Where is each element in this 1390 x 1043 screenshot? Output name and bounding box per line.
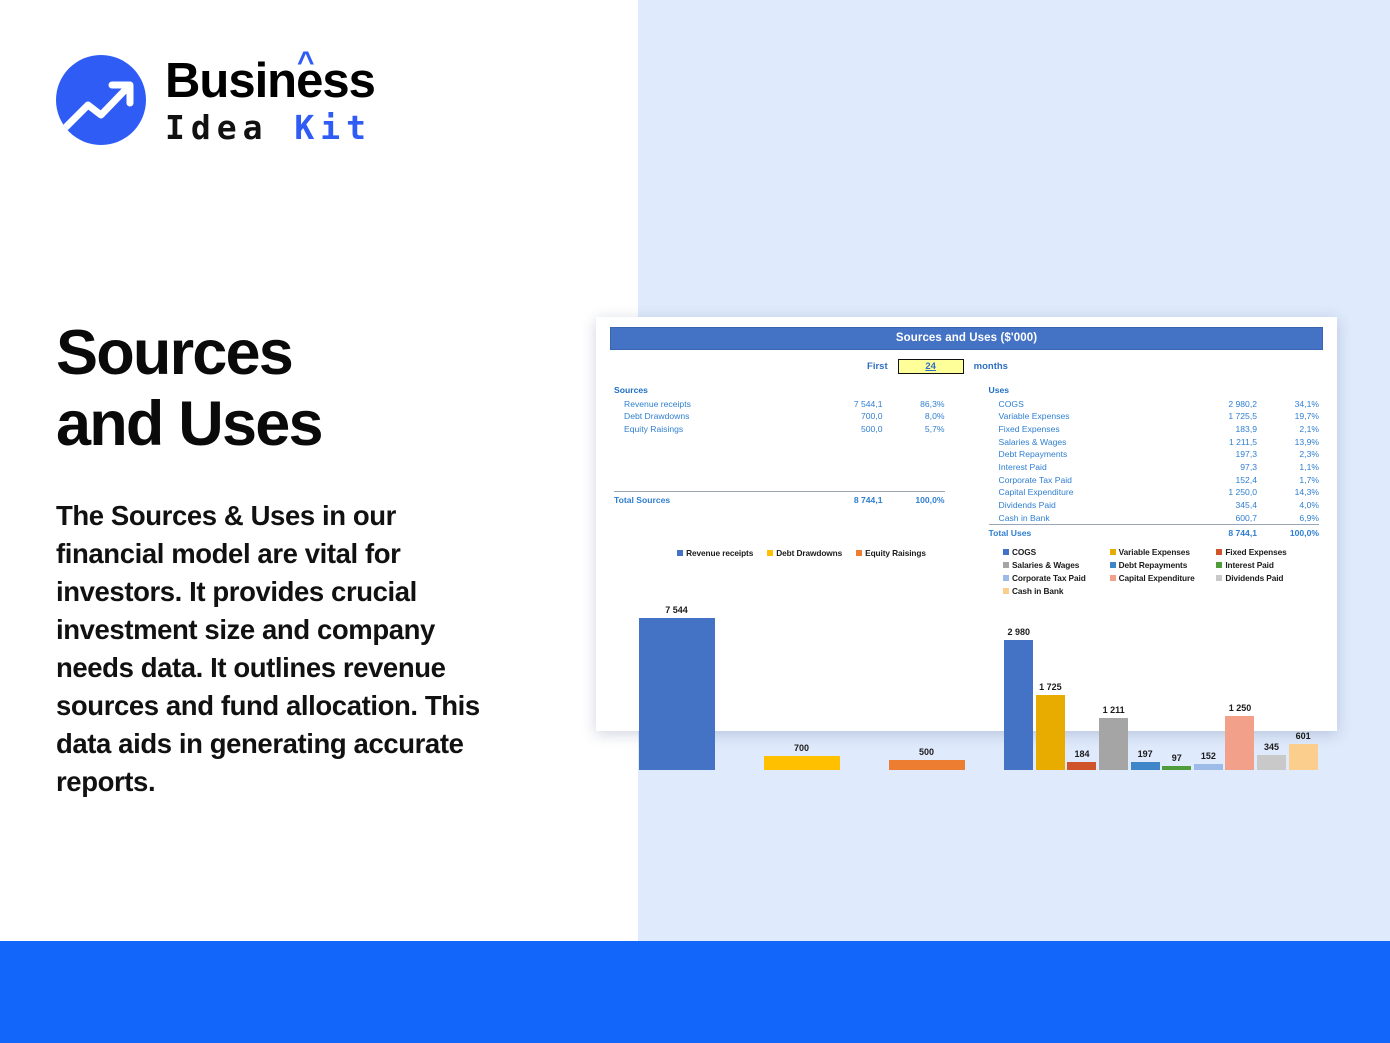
row-label: Salaries & Wages	[989, 436, 1180, 449]
bar-value-label: 1 211	[1103, 705, 1125, 715]
row-label: Debt Repayments	[989, 448, 1180, 461]
bar-value-label: 97	[1172, 753, 1182, 763]
legend-label: Equity Raisings	[865, 548, 926, 558]
row-percent: 4,0%	[1257, 499, 1319, 512]
legend-label: Variable Expenses	[1119, 547, 1190, 557]
table-spacer	[614, 476, 945, 484]
row-value: 700,0	[805, 410, 883, 423]
bar-column[interactable]: 97	[1162, 600, 1191, 770]
total-value: 8 744,1	[1179, 525, 1257, 540]
legend-swatch-icon	[1003, 588, 1009, 594]
bar-value-label: 1 725	[1039, 682, 1062, 692]
sources-chart-legend: Revenue receiptsDebt DrawdownsEquity Rai…	[614, 547, 989, 596]
row-percent: 34,1%	[1257, 398, 1319, 411]
row-value: 97,3	[1179, 461, 1257, 474]
total-label: Total Uses	[989, 525, 1180, 540]
row-percent: 8,0%	[883, 410, 945, 423]
total-percent: 100,0%	[883, 492, 945, 507]
sources-table: Sources Revenue receipts 7 544,1 86,3% D…	[614, 384, 945, 539]
legend-item[interactable]: COGS	[1003, 547, 1106, 557]
row-value: 600,7	[1179, 512, 1257, 525]
legend-item[interactable]: Corporate Tax Paid	[1003, 573, 1106, 583]
bar-column[interactable]: 184	[1067, 600, 1096, 770]
table-spacer	[614, 484, 945, 492]
table-row: Dividends Paid 345,4 4,0%	[989, 499, 1320, 512]
total-percent: 100,0%	[1257, 525, 1319, 540]
bar-value-label: 601	[1296, 731, 1311, 741]
bar[interactable]	[1194, 764, 1223, 771]
sources-uses-tables: Sources Revenue receipts 7 544,1 86,3% D…	[608, 384, 1325, 539]
row-value: 183,9	[1179, 423, 1257, 436]
table-row: Variable Expenses 1 725,5 19,7%	[989, 410, 1320, 423]
legend-item[interactable]: Fixed Expenses	[1216, 547, 1319, 557]
brand-name-kit: Kit	[294, 108, 372, 147]
bar-column[interactable]: 601	[1289, 600, 1318, 770]
table-header-row: Sources	[614, 384, 945, 398]
table-row: Equity Raisings 500,0 5,7%	[614, 423, 945, 436]
bar[interactable]	[639, 618, 715, 770]
row-label: Revenue receipts	[614, 398, 805, 411]
legend-label: COGS	[1012, 547, 1036, 557]
legend-label: Salaries & Wages	[1012, 560, 1079, 570]
table-spacer	[614, 436, 945, 444]
bar[interactable]	[764, 756, 840, 770]
uses-chart-legend: COGSVariable ExpensesFixed ExpensesSalar…	[1003, 547, 1319, 596]
months-input-value: 24	[925, 361, 936, 372]
row-label: Interest Paid	[989, 461, 1180, 474]
uses-header: Uses	[989, 384, 1180, 398]
row-value: 2 980,2	[1179, 398, 1257, 411]
bar-value-label: 7 544	[665, 605, 688, 615]
legend-swatch-icon	[856, 550, 862, 556]
bar-column[interactable]: 345	[1257, 600, 1286, 770]
total-value: 8 744,1	[805, 492, 883, 507]
legend-label: Fixed Expenses	[1225, 547, 1286, 557]
legend-label: Debt Drawdowns	[776, 548, 842, 558]
legend-label: Corporate Tax Paid	[1012, 573, 1086, 583]
period-prefix-label: First	[867, 361, 888, 372]
legend-label: Interest Paid	[1225, 560, 1274, 570]
row-value: 152,4	[1179, 474, 1257, 487]
bar-column[interactable]: 500	[889, 600, 965, 770]
bar-column[interactable]: 7 544	[639, 600, 715, 770]
row-label: Cash in Bank	[989, 512, 1180, 525]
table-row: COGS 2 980,2 34,1%	[989, 398, 1320, 411]
legend-swatch-icon	[1110, 562, 1116, 568]
bar-value-label: 2 980	[1008, 627, 1031, 637]
bar[interactable]	[1004, 640, 1033, 770]
bar[interactable]	[1225, 716, 1254, 771]
row-label: Fixed Expenses	[989, 423, 1180, 436]
row-percent: 5,7%	[883, 423, 945, 436]
legend-swatch-icon	[677, 550, 683, 556]
table-header-row: Uses	[989, 384, 1320, 398]
page-description: The Sources & Uses in our financial mode…	[56, 497, 506, 801]
bar[interactable]	[1257, 755, 1286, 770]
bar-value-label: 345	[1264, 742, 1279, 752]
brand-name-secondary: Idea Kit	[165, 111, 375, 144]
legend-item[interactable]: Interest Paid	[1216, 560, 1319, 570]
table-spacer	[614, 452, 945, 460]
legend-item[interactable]: Salaries & Wages	[1003, 560, 1106, 570]
row-label: Equity Raisings	[614, 423, 805, 436]
brand-name-idea: Idea	[165, 108, 268, 147]
row-label: Corporate Tax Paid	[989, 474, 1180, 487]
bar[interactable]	[1036, 695, 1065, 770]
sources-total-row: Total Sources 8 744,1 100,0%	[614, 492, 945, 507]
bar[interactable]	[1067, 762, 1096, 770]
bar-column[interactable]: 152	[1194, 600, 1223, 770]
growth-arrow-icon	[56, 55, 146, 145]
table-row: Revenue receipts 7 544,1 86,3%	[614, 398, 945, 411]
row-value: 500,0	[805, 423, 883, 436]
bottom-accent-bar	[0, 941, 1390, 1043]
circumflex-accent-icon: ^	[297, 48, 314, 78]
bar-column[interactable]: 2 980	[1004, 600, 1033, 770]
bar-value-label: 700	[794, 743, 809, 753]
legend-swatch-icon	[1216, 575, 1222, 581]
row-label: Capital Expenditure	[989, 486, 1180, 499]
bar-column[interactable]: 700	[764, 600, 840, 770]
table-row: Capital Expenditure 1 250,0 14,3%	[989, 486, 1320, 499]
period-suffix-label: months	[974, 361, 1008, 372]
legend-item[interactable]: Revenue receipts	[677, 548, 753, 558]
legend-label: Cash in Bank	[1012, 586, 1063, 596]
row-percent: 14,3%	[1257, 486, 1319, 499]
table-row: Fixed Expenses 183,9 2,1%	[989, 423, 1320, 436]
row-value: 197,3	[1179, 448, 1257, 461]
bar-column[interactable]: 1 211	[1099, 600, 1128, 770]
table-spacer	[614, 460, 945, 468]
bar-value-label: 1 250	[1229, 703, 1252, 713]
bar[interactable]	[1131, 762, 1160, 771]
legend-swatch-icon	[1003, 562, 1009, 568]
charts-row: 7 544700500 2 9801 7251841 211197971521 …	[608, 600, 1325, 770]
legend-label: Dividends Paid	[1225, 573, 1283, 583]
row-percent: 13,9%	[1257, 436, 1319, 449]
brand-name-text: Business	[165, 54, 375, 108]
bar-column[interactable]: 1 725	[1036, 600, 1065, 770]
table-row: Corporate Tax Paid 152,4 1,7%	[989, 474, 1320, 487]
row-label: COGS	[989, 398, 1180, 411]
row-percent: 2,3%	[1257, 448, 1319, 461]
bar[interactable]	[889, 760, 965, 770]
months-input[interactable]: 24	[898, 359, 964, 374]
legend-item[interactable]: Debt Repayments	[1110, 560, 1213, 570]
spreadsheet-card: Sources and Uses ($'000) First 24 months…	[596, 317, 1337, 731]
brand-name-primary: Business ^	[165, 57, 375, 106]
legend-item[interactable]: Dividends Paid	[1216, 573, 1319, 583]
row-value: 1 725,5	[1179, 410, 1257, 423]
brand-logo[interactable]: Business ^ Idea Kit	[56, 55, 375, 145]
legend-label: Revenue receipts	[686, 548, 753, 558]
row-percent: 19,7%	[1257, 410, 1319, 423]
legend-item[interactable]: Capital Expenditure	[1110, 573, 1213, 583]
bar-value-label: 500	[919, 747, 934, 757]
bar[interactable]	[1289, 744, 1318, 770]
bar-value-label: 152	[1201, 751, 1216, 761]
total-label: Total Sources	[614, 492, 805, 507]
row-value: 345,4	[1179, 499, 1257, 512]
legend-swatch-icon	[1216, 562, 1222, 568]
bar-value-label: 197	[1138, 749, 1153, 759]
table-spacer	[614, 444, 945, 452]
legend-item[interactable]: Equity Raisings	[856, 548, 926, 558]
table-spacer	[614, 468, 945, 476]
row-value: 7 544,1	[805, 398, 883, 411]
row-percent: 1,7%	[1257, 474, 1319, 487]
table-row: Debt Drawdowns 700,0 8,0%	[614, 410, 945, 423]
row-percent: 2,1%	[1257, 423, 1319, 436]
row-percent: 1,1%	[1257, 461, 1319, 474]
table-row: Debt Repayments 197,3 2,3%	[989, 448, 1320, 461]
bar-value-label: 184	[1074, 749, 1089, 759]
row-percent: 6,9%	[1257, 512, 1319, 525]
row-label: Debt Drawdowns	[614, 410, 805, 423]
legend-label: Debt Repayments	[1119, 560, 1188, 570]
legend-swatch-icon	[1003, 549, 1009, 555]
row-percent: 86,3%	[883, 398, 945, 411]
page-title: Sources and Uses	[56, 318, 586, 459]
table-row: Interest Paid 97,3 1,1%	[989, 461, 1320, 474]
slide-page: Business ^ Idea Kit Sources and Uses The…	[0, 0, 1390, 1043]
legend-swatch-icon	[1003, 575, 1009, 581]
bar[interactable]	[1099, 718, 1128, 771]
uses-total-row: Total Uses 8 744,1 100,0%	[989, 525, 1320, 540]
legend-swatch-icon	[1110, 575, 1116, 581]
table-row: Salaries & Wages 1 211,5 13,9%	[989, 436, 1320, 449]
row-label: Variable Expenses	[989, 410, 1180, 423]
period-selector-row: First 24 months	[550, 359, 1325, 374]
bar[interactable]	[1162, 766, 1191, 770]
sources-header: Sources	[614, 384, 805, 398]
legend-swatch-icon	[1216, 549, 1222, 555]
legend-item[interactable]: Debt Drawdowns	[767, 548, 842, 558]
legend-swatch-icon	[767, 550, 773, 556]
legend-swatch-icon	[1110, 549, 1116, 555]
legend-label: Capital Expenditure	[1119, 573, 1195, 583]
row-value: 1 250,0	[1179, 486, 1257, 499]
table-row: Cash in Bank 600,7 6,9%	[989, 512, 1320, 525]
bar-column[interactable]: 1 250	[1225, 600, 1254, 770]
sources-bar-chart: 7 544700500	[614, 600, 989, 770]
sheet-title-bar: Sources and Uses ($'000)	[610, 327, 1323, 350]
bar-column[interactable]: 197	[1131, 600, 1160, 770]
row-value: 1 211,5	[1179, 436, 1257, 449]
legend-item[interactable]: Variable Expenses	[1110, 547, 1213, 557]
legend-item[interactable]: Cash in Bank	[1003, 586, 1106, 596]
row-label: Dividends Paid	[989, 499, 1180, 512]
uses-bar-chart: 2 9801 7251841 211197971521 250345601	[1003, 600, 1319, 770]
chart-legends: Revenue receiptsDebt DrawdownsEquity Rai…	[608, 547, 1325, 596]
uses-table: Uses COGS 2 980,2 34,1% Variable Expense…	[989, 384, 1320, 539]
